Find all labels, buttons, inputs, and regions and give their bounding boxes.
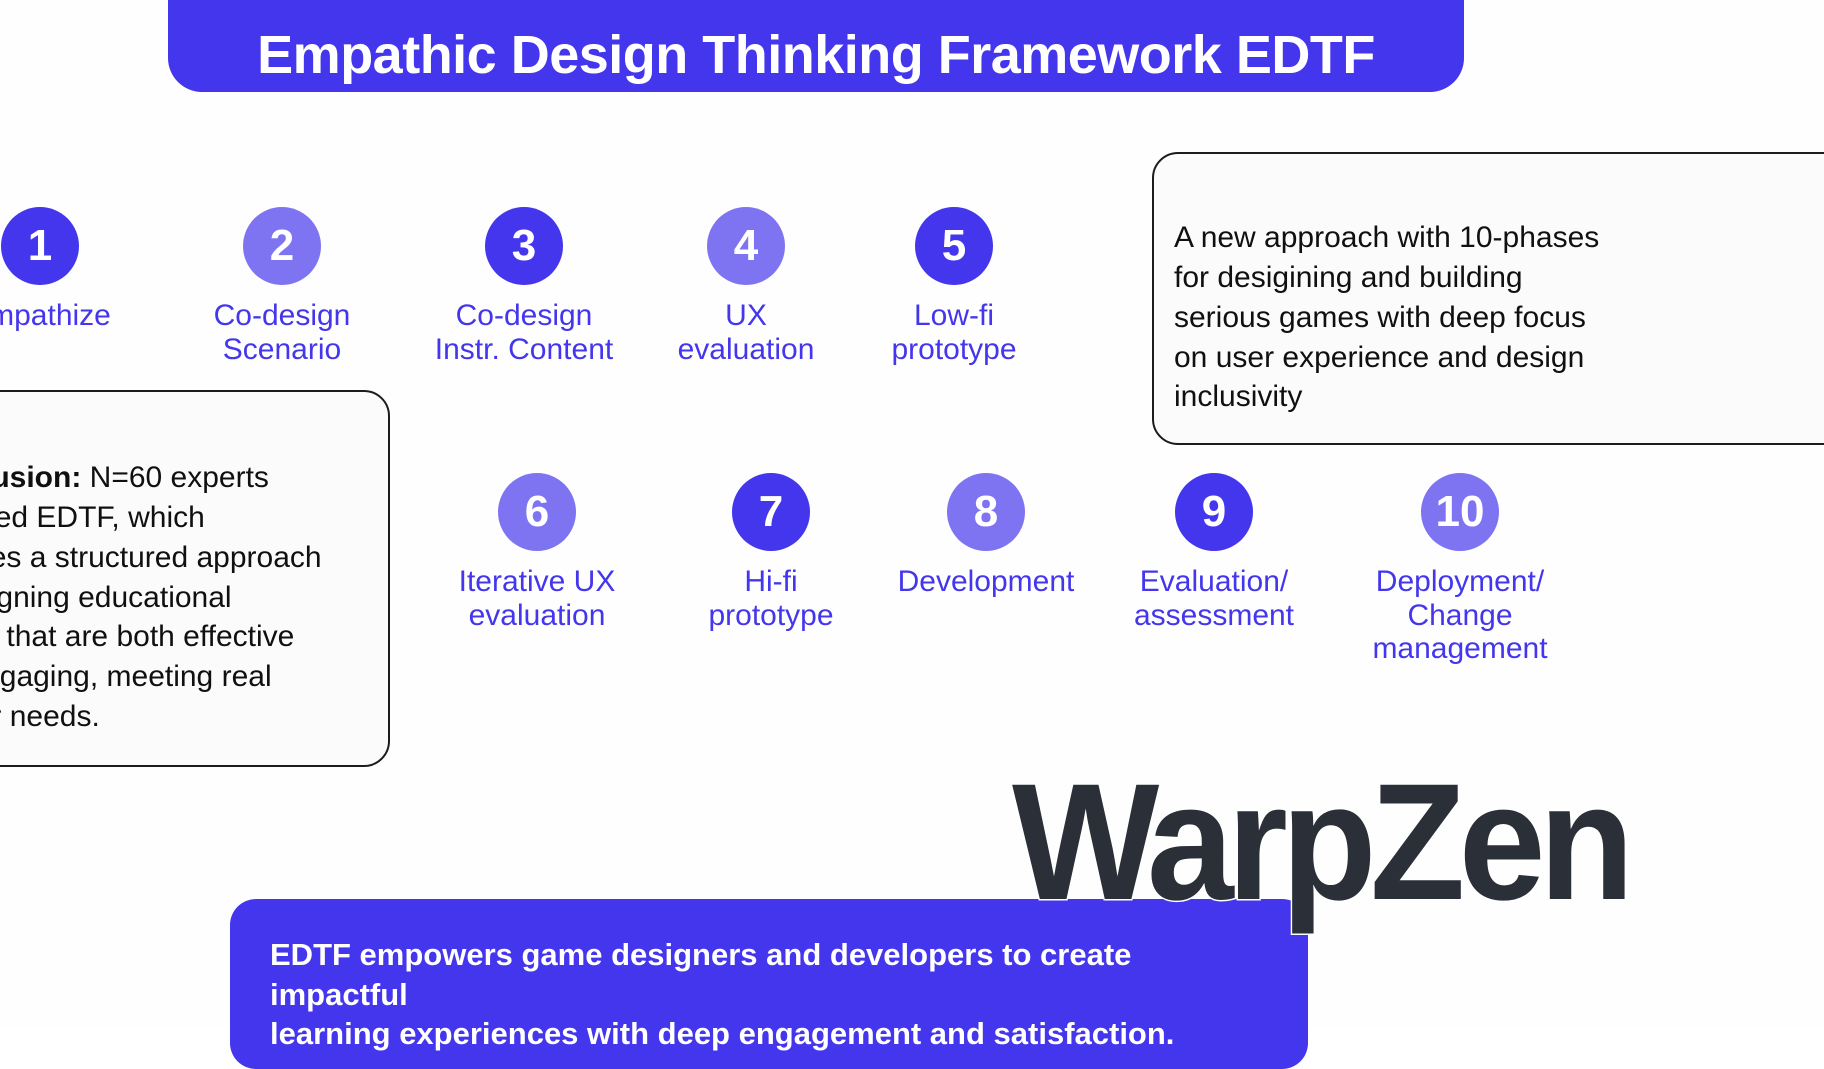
page-title: Empathic Design Thinking Framework EDTF: [257, 27, 1375, 84]
callout-conclusion: Conclusion: N=60 experts validated EDTF,…: [0, 390, 390, 767]
step-label-9: Evaluation/ assessment: [1084, 565, 1344, 632]
step-number-badge-5: 5: [915, 207, 993, 285]
step-item-1[interactable]: 1 Empathize: [0, 207, 170, 333]
step-item-3[interactable]: 3 Co-design Instr. Content: [394, 207, 654, 366]
step-label-8: Development: [856, 565, 1116, 599]
callout-approach-text: A new approach with 10-phases for desigi…: [1174, 221, 1599, 414]
step-item-9[interactable]: 9 Evaluation/ assessment: [1084, 473, 1344, 632]
watermark-logo: WarpZen: [1012, 760, 1628, 926]
step-item-5[interactable]: 5 Low-fi prototype: [824, 207, 1084, 366]
step-item-2[interactable]: 2 Co-design Scenario: [152, 207, 412, 366]
step-number-badge-3: 3: [485, 207, 563, 285]
step-label-10: Deployment/ Change management: [1330, 565, 1590, 666]
step-item-8[interactable]: 8 Development: [856, 473, 1116, 599]
step-label-1: Empathize: [0, 299, 170, 333]
callout-conclusion-lead: Conclusion:: [0, 461, 81, 494]
step-item-6[interactable]: 6 Iterative UX evaluation: [407, 473, 667, 632]
step-number-badge-10: 10: [1421, 473, 1499, 551]
step-label-3: Co-design Instr. Content: [394, 299, 654, 366]
step-label-5: Low-fi prototype: [824, 299, 1084, 366]
step-number-badge-1: 1: [1, 207, 79, 285]
step-number-badge-4: 4: [707, 207, 785, 285]
step-item-10[interactable]: 10 Deployment/ Change management: [1330, 473, 1590, 666]
step-label-6: Iterative UX evaluation: [407, 565, 667, 632]
step-number-badge-6: 6: [498, 473, 576, 551]
summary-banner-text: EDTF empowers game designers and develop…: [270, 935, 1268, 1054]
step-number-badge-2: 2: [243, 207, 321, 285]
callout-conclusion-text: N=60 experts validated EDTF, which provi…: [0, 461, 322, 733]
step-number-badge-9: 9: [1175, 473, 1253, 551]
step-number-badge-7: 7: [732, 473, 810, 551]
step-number-badge-8: 8: [947, 473, 1025, 551]
step-label-2: Co-design Scenario: [152, 299, 412, 366]
title-banner: Empathic Design Thinking Framework EDTF: [168, 0, 1464, 92]
callout-approach: A new approach with 10-phases for desigi…: [1152, 152, 1824, 445]
